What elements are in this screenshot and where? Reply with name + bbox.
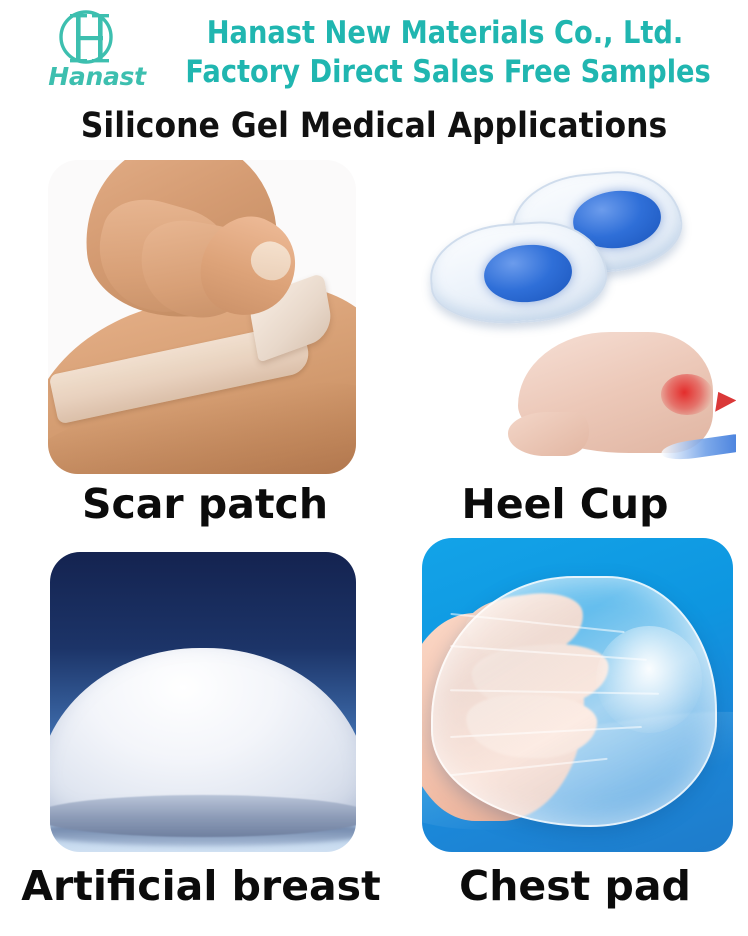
toes-shape: [508, 412, 589, 456]
heel-cup-illustration: [396, 160, 736, 474]
artificial-breast-photo: [50, 552, 356, 852]
company-headline: Hanast New Materials Co., Ltd. Factory D…: [150, 14, 740, 92]
sales-promo-line: Factory Direct Sales Free Samples: [185, 52, 704, 92]
pad-highlight: [596, 626, 702, 733]
caption-heel-cup: Heel Cup: [400, 480, 730, 528]
chest-pad-photo: [422, 538, 733, 852]
scar-patch-illustration: [48, 160, 356, 474]
prosthesis-base-rim: [50, 795, 356, 837]
pad-ridge-line: [451, 757, 608, 776]
scar-patch-photo: [48, 160, 356, 474]
artificial-breast-illustration: [50, 552, 356, 852]
hanast-circle-h-logo-icon: [54, 8, 124, 70]
heel-cup-photo: [396, 160, 736, 474]
pad-ridge-line: [450, 726, 642, 738]
logo-wordmark: Hanast: [36, 64, 158, 89]
caption-artificial-breast: Artificial breast: [6, 862, 396, 910]
caption-scar-patch: Scar patch: [40, 480, 370, 528]
pad-ridge-line: [451, 613, 625, 633]
company-logo: Hanast: [36, 8, 158, 96]
product-card-scar-patch: [48, 160, 356, 474]
chest-pad-illustration: [422, 538, 733, 852]
company-name-line: Hanast New Materials Co., Ltd.: [185, 14, 704, 52]
product-poster: Hanast Hanast New Materials Co., Ltd. Fa…: [0, 0, 748, 936]
heel-pain-highlight: [661, 374, 713, 415]
caption-chest-pad: Chest pad: [410, 862, 740, 910]
product-grid: Scar patch Heel C: [0, 152, 748, 936]
brand-header: Hanast Hanast New Materials Co., Ltd. Fa…: [0, 0, 748, 104]
product-card-chest-pad: [422, 538, 733, 852]
product-card-artificial-breast: [50, 552, 356, 852]
foot-pain-diagram: [508, 326, 736, 474]
page-title: Silicone Gel Medical Applications: [37, 104, 710, 148]
product-card-heel-cup: [396, 160, 736, 474]
